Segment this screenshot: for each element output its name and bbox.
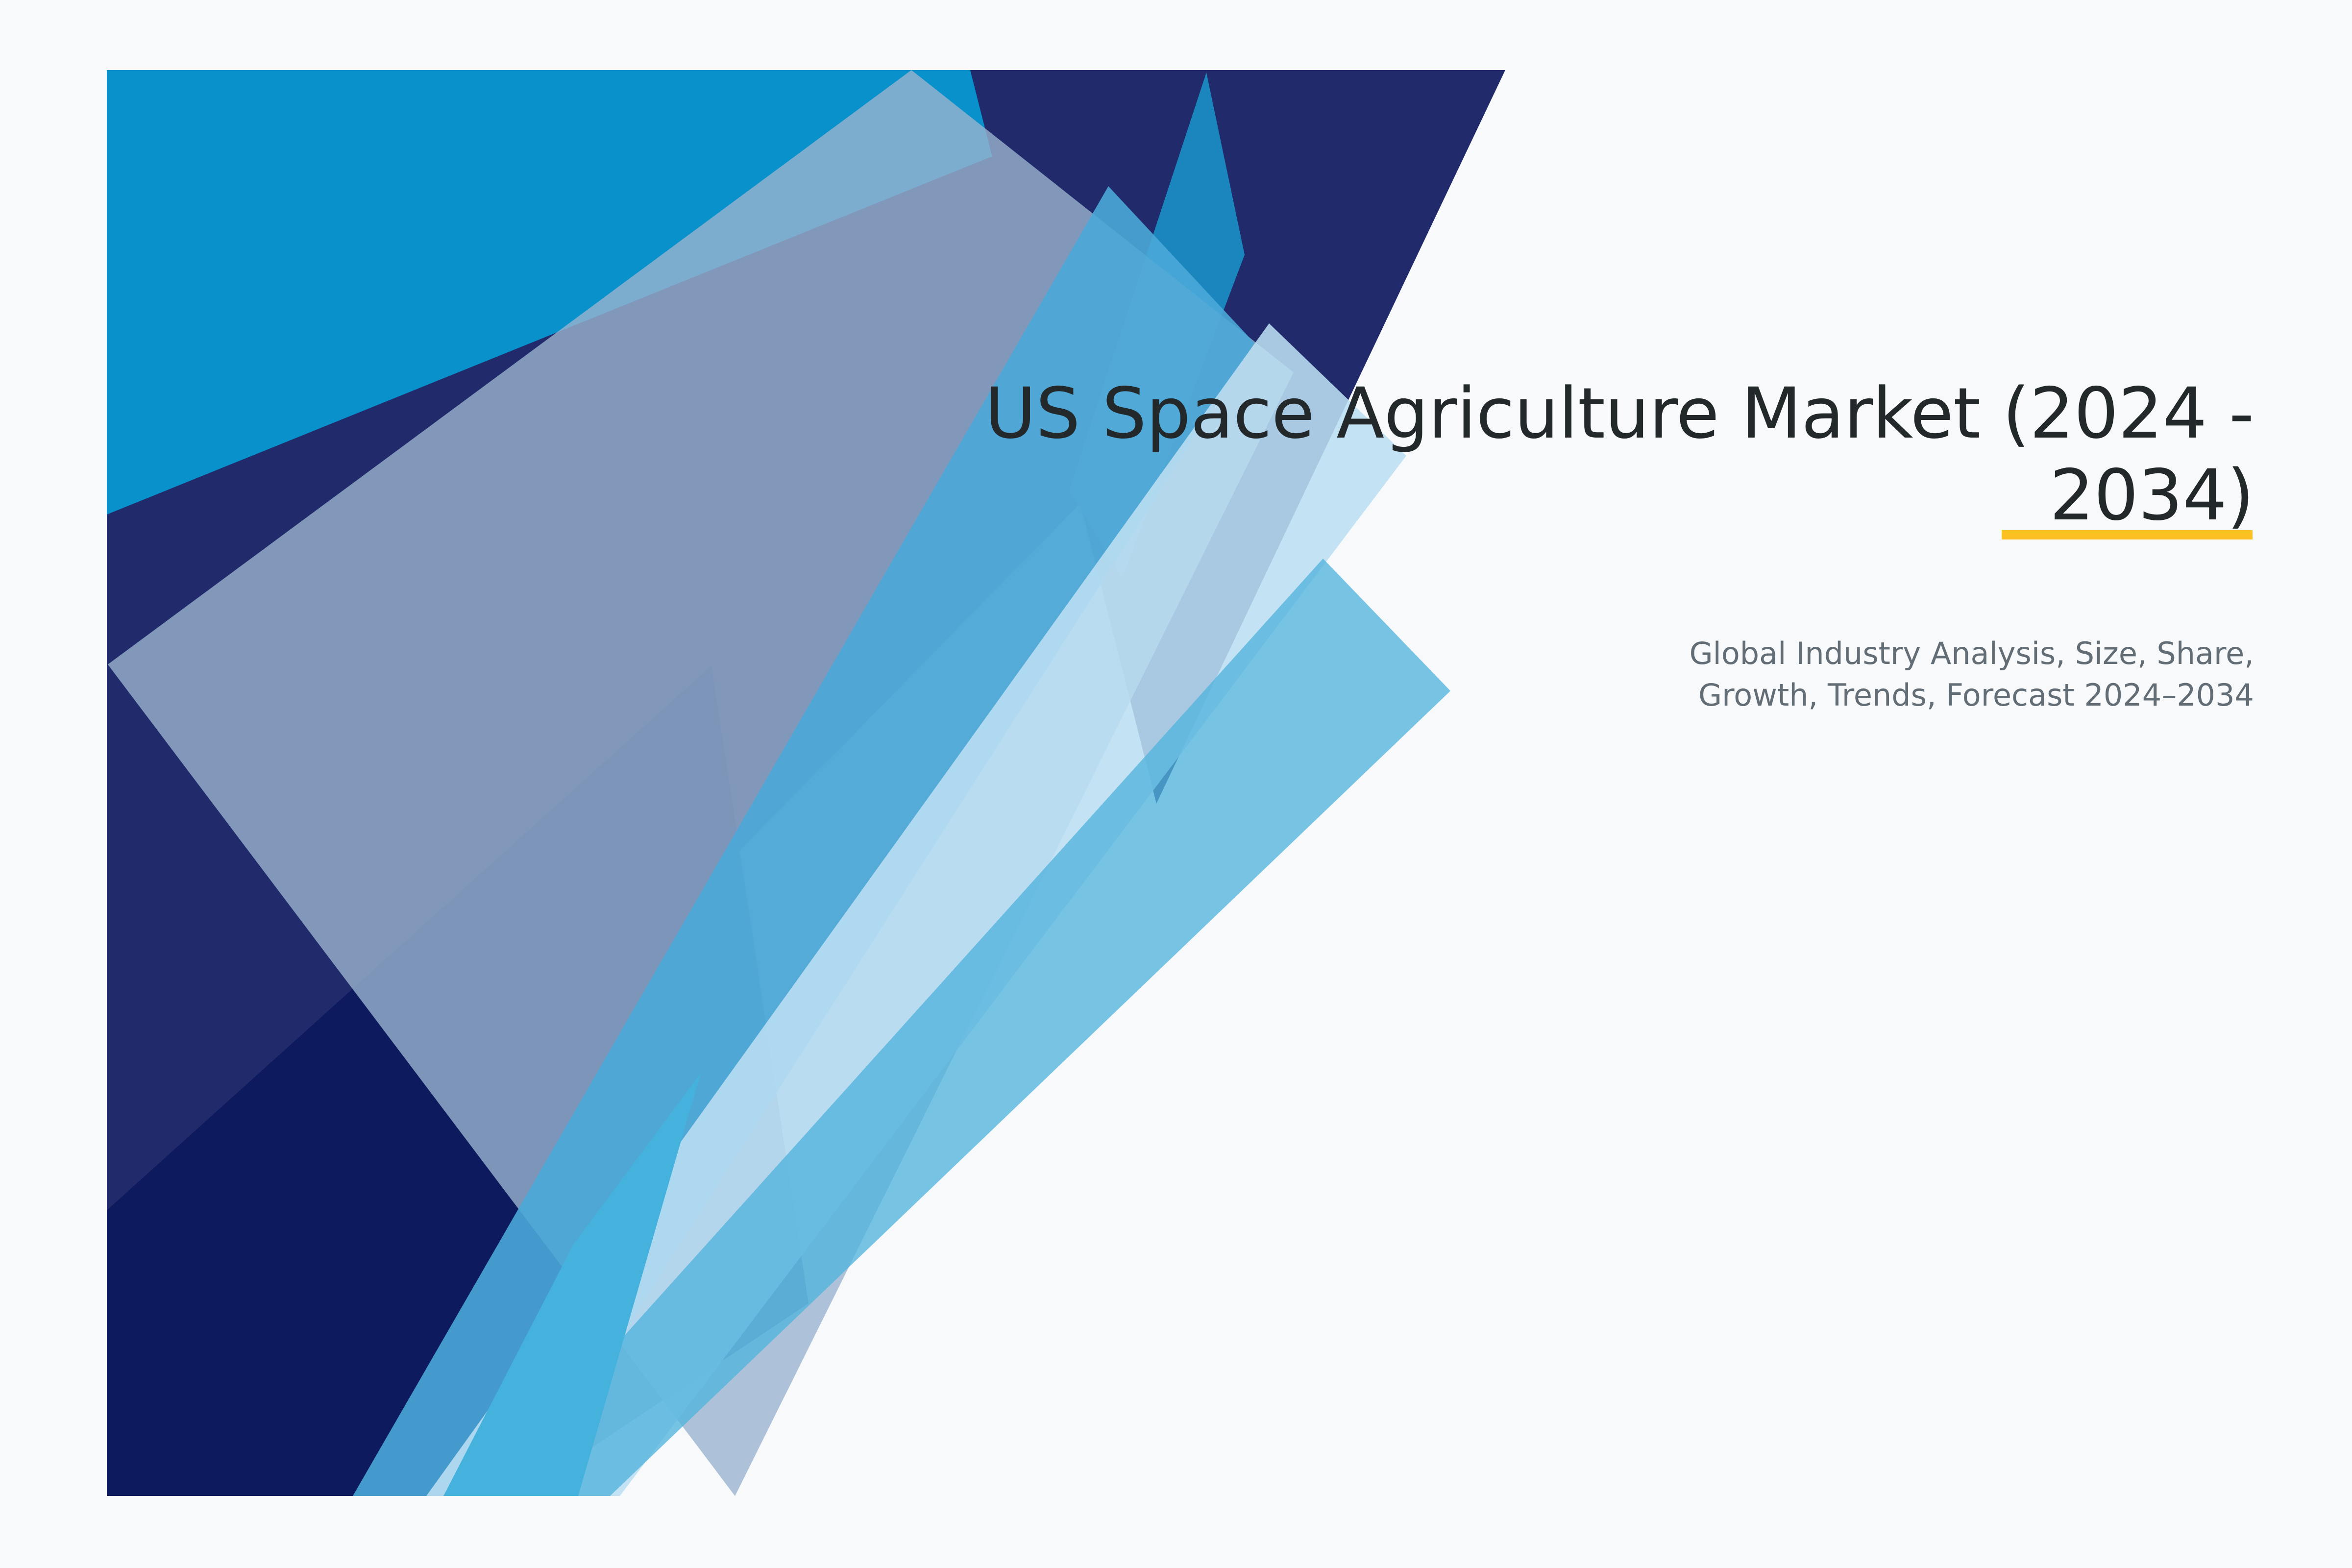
artwork-svg	[0, 0, 2352, 1568]
title-block: US Space Agriculture Market (2024 - 2034…	[764, 372, 2254, 716]
page-subtitle: Global Industry Analysis, Size, Share, G…	[764, 633, 2254, 716]
slide-canvas: US Space Agriculture Market (2024 - 2034…	[0, 0, 2352, 1568]
page-title: US Space Agriculture Market (2024 - 2034…	[764, 372, 2254, 537]
cover-artwork	[0, 0, 2352, 1568]
